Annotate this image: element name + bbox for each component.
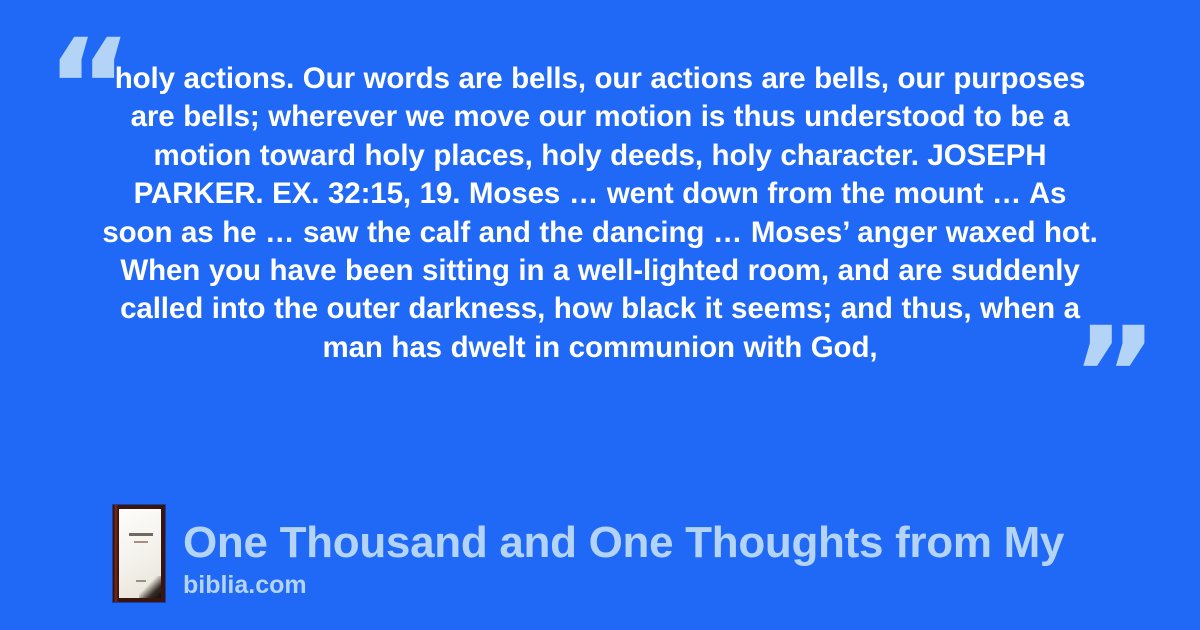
- footer-attribution: One Thousand and One Thoughts from My bi…: [113, 505, 1064, 602]
- book-cover-thumbnail: [113, 505, 165, 602]
- book-spine: [113, 505, 118, 602]
- quote-text: holy actions. Our words are bells, our a…: [100, 60, 1100, 367]
- cover-title-line: [129, 533, 153, 536]
- quote-card: “ holy actions. Our words are bells, our…: [0, 0, 1200, 630]
- quote-body: holy actions. Our words are bells, our a…: [100, 60, 1100, 430]
- cover-subtitle-line: [134, 541, 148, 543]
- site-name: biblia.com: [183, 570, 1064, 600]
- cover-author-line: [136, 580, 146, 582]
- book-cover-page: [119, 509, 161, 598]
- close-quote-icon: ”: [1071, 310, 1158, 442]
- book-title: One Thousand and One Thoughts from My: [183, 518, 1064, 568]
- footer-text-group: One Thousand and One Thoughts from My bi…: [183, 518, 1064, 602]
